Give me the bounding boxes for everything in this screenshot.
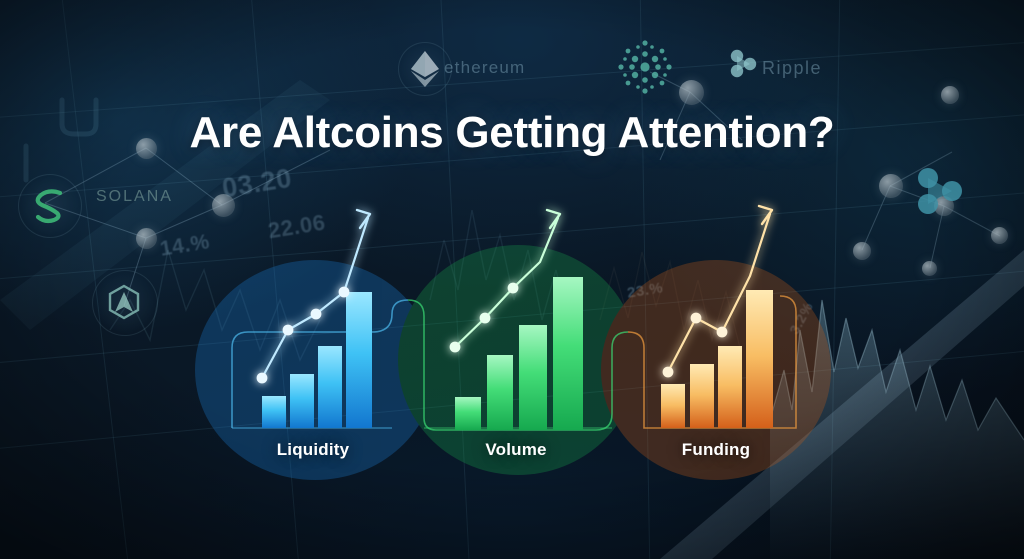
bar — [346, 292, 372, 428]
bar-group-volume — [450, 210, 583, 430]
coin-label-ripple: Ripple — [762, 58, 822, 79]
bar — [262, 396, 286, 428]
faint-number: 23.% — [626, 279, 664, 301]
trend-point — [311, 309, 322, 320]
mountain-chart-silhouette — [770, 300, 1024, 559]
network-node — [991, 227, 1008, 244]
bar — [718, 346, 742, 428]
ripple-icon — [912, 164, 970, 222]
bar — [290, 374, 314, 428]
group-label-volume: Volume — [485, 440, 546, 460]
trend-point — [339, 287, 350, 298]
arrow-head-liquidity — [357, 210, 370, 228]
bar-group-liquidity — [257, 210, 372, 428]
faint-number: 03.20 — [220, 163, 294, 205]
network-node — [934, 196, 954, 216]
trend-point — [450, 342, 461, 353]
bar — [661, 384, 685, 428]
solana-icon — [30, 186, 68, 224]
bar-chart-graphic — [0, 0, 1024, 559]
ethereum-logo-ring — [398, 42, 452, 96]
crystal-icon — [105, 283, 143, 321]
network-node — [941, 86, 959, 104]
connector-frame-liquidity — [232, 300, 408, 428]
connector-frames — [232, 296, 796, 430]
ethereum-icon — [408, 50, 442, 88]
bar — [553, 277, 583, 430]
cardano-icon — [616, 38, 674, 96]
crystal-logo-ring — [92, 270, 158, 336]
coin-label-ethereum: ethereum — [444, 58, 525, 78]
network-node — [922, 261, 937, 276]
bar — [519, 325, 547, 430]
network-node — [853, 242, 871, 260]
group-label-liquidity: Liquidity — [277, 440, 350, 460]
connector-frame-funding — [628, 296, 796, 428]
trend-point — [480, 313, 491, 324]
network-node — [879, 174, 903, 198]
trend-point — [717, 327, 728, 338]
trend-line-funding — [663, 206, 772, 377]
bar — [690, 364, 714, 428]
ripple-icon — [726, 48, 758, 80]
bar — [455, 397, 481, 430]
arrow-head-funding — [759, 206, 772, 224]
background-graph-art — [0, 0, 1024, 559]
trend-line-volume — [450, 210, 560, 352]
solana-logo-ring — [18, 174, 82, 238]
background-art: ethereum SOLANA — [0, 0, 1024, 559]
bar — [746, 290, 773, 428]
coin-label-solana: SOLANA — [96, 188, 173, 206]
network-lines-right — [650, 72, 1000, 268]
trend-point — [283, 325, 294, 336]
network-lines-left — [45, 148, 330, 306]
faint-number: 3.2% — [786, 299, 816, 336]
bar-group-funding — [661, 206, 773, 428]
bar — [318, 346, 342, 428]
trend-point — [508, 283, 519, 294]
network-node — [679, 80, 704, 105]
faint-number: 22.06 — [266, 210, 327, 245]
trend-point — [691, 313, 702, 324]
bar — [487, 355, 513, 430]
trend-line-liquidity — [257, 210, 370, 383]
trend-point — [257, 373, 268, 384]
faint-number: 14.% — [158, 230, 211, 262]
connector-frame-volume — [408, 300, 628, 430]
arrow-head-volume — [547, 210, 560, 228]
banner-image: ethereum SOLANA — [0, 0, 1024, 559]
page-title: Are Altcoins Getting Attention? — [0, 108, 1024, 158]
group-label-funding: Funding — [682, 440, 750, 460]
network-node — [136, 228, 157, 249]
network-node — [212, 194, 235, 217]
trend-point — [663, 367, 674, 378]
